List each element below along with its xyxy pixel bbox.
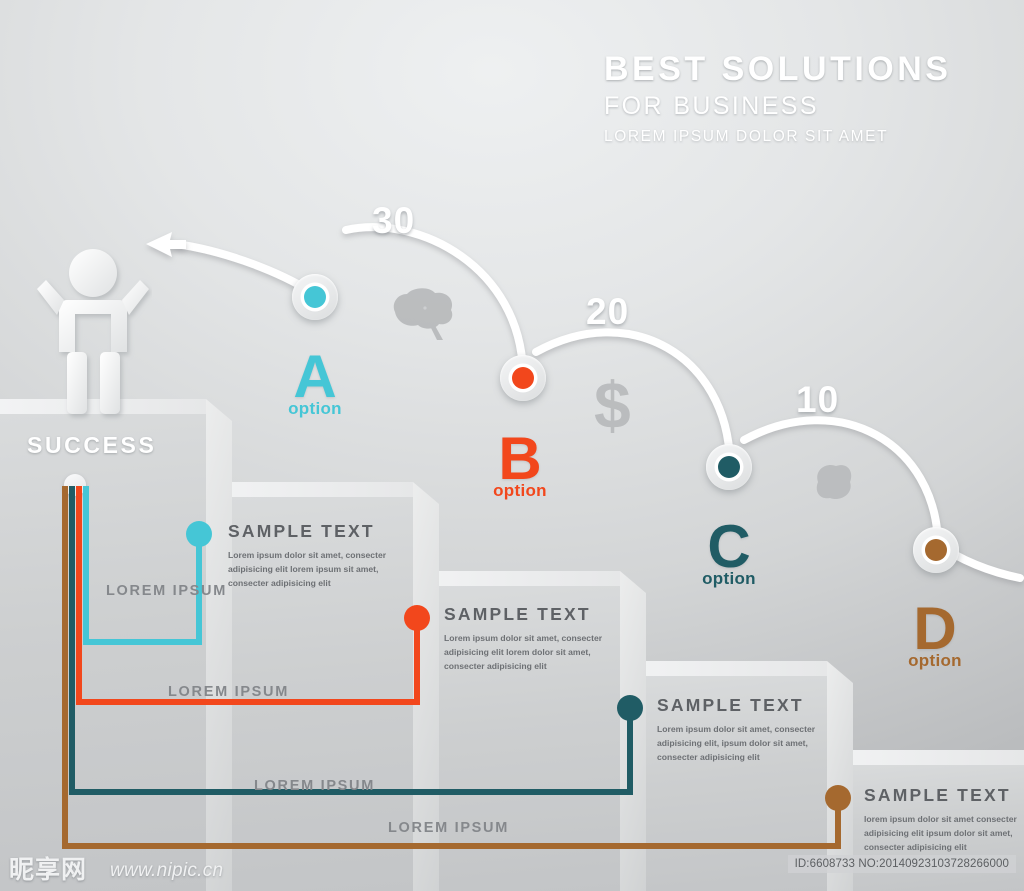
content-heading-b: SAMPLE TEXT — [444, 604, 626, 625]
connector-label-d: LOREM IPSUM — [388, 820, 509, 836]
image-id-text: ID:6608733 NO:20140923103728266000 — [788, 855, 1016, 873]
connector-pin-d[interactable] — [825, 785, 851, 811]
content-heading-d: SAMPLE TEXT — [864, 785, 1024, 806]
connector-label-a: LOREM IPSUM — [106, 581, 184, 602]
content-body-b: Lorem ipsum dolor sit amet, consecter ad… — [444, 632, 626, 674]
connector-group — [0, 0, 1024, 891]
content-heading-a: SAMPLE TEXT — [228, 521, 414, 542]
connector-pin-a[interactable] — [186, 521, 212, 547]
connector-pin-c[interactable] — [617, 695, 643, 721]
content-block-c: SAMPLE TEXT Lorem ipsum dolor sit amet, … — [657, 695, 835, 765]
content-heading-c: SAMPLE TEXT — [657, 695, 835, 716]
content-body-c: Lorem ipsum dolor sit amet, consecter ad… — [657, 723, 835, 765]
footer-watermark-bar: 昵享网 www.nipic.cn ID:6608733 NO:201409231… — [0, 845, 1024, 891]
site-logo: 昵享网 — [9, 858, 87, 883]
content-block-a: SAMPLE TEXT Lorem ipsum dolor sit amet, … — [228, 521, 414, 591]
content-body-a: Lorem ipsum dolor sit amet, consecter ad… — [228, 549, 414, 591]
content-block-b: SAMPLE TEXT Lorem ipsum dolor sit amet, … — [444, 604, 626, 674]
connector-label-c: LOREM IPSUM — [254, 778, 375, 794]
site-url: www.nipic.cn — [110, 861, 223, 880]
connector-label-b: LOREM IPSUM — [168, 684, 289, 700]
connector-line-a — [86, 486, 199, 642]
connector-pin-b[interactable] — [404, 605, 430, 631]
infographic-canvas: $ — [0, 0, 1024, 891]
